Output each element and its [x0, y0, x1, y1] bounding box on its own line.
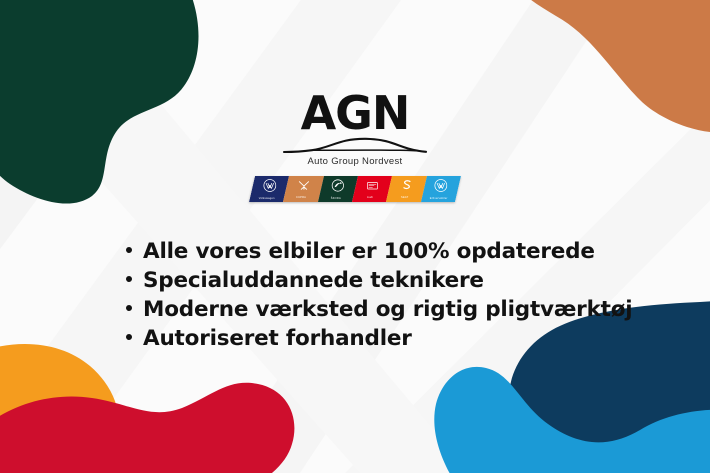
list-item: Alle vores elbiler er 100% opdaterede	[126, 240, 710, 264]
volkswagen-icon	[263, 178, 276, 195]
car-silhouette-icon	[282, 137, 428, 155]
brand-label-skoda: ŠKODA	[331, 196, 341, 199]
poster-content: AGN Auto Group Nordvest Volkswagen	[0, 0, 710, 473]
audi-icon	[366, 179, 380, 195]
benefit-text-4: Autoriseret forhandler	[143, 327, 412, 351]
skoda-icon	[332, 178, 345, 195]
logo-wordmark: AGN	[301, 92, 410, 136]
brand-label-audi: Audi	[367, 196, 373, 199]
seat-icon	[401, 179, 412, 195]
cupra-icon	[297, 179, 310, 195]
benefit-text-2: Specialuddannede teknikere	[143, 269, 484, 293]
list-item: Specialuddannede teknikere	[126, 269, 710, 293]
list-item: Autoriseret forhandler	[126, 327, 710, 351]
benefit-text-1: Alle vores elbiler er 100% opdaterede	[143, 240, 595, 264]
logo-tagline: Auto Group Nordvest	[308, 156, 403, 167]
brand-label-cupra: CUPRA	[296, 196, 306, 199]
bullet-dot-icon	[126, 334, 132, 340]
benefit-text-3: Moderne værksted og rigtig pligtværktøj	[143, 298, 632, 322]
brand-label-volkswagen: Volkswagen	[259, 196, 275, 199]
brand-cell-vw-erhverv[interactable]: Erhvervsbiler	[421, 176, 461, 202]
list-item: Moderne værksted og rigtig pligtværktøj	[126, 298, 710, 322]
bullet-dot-icon	[126, 247, 132, 253]
benefits-list: Alle vores elbiler er 100% opdaterede Sp…	[0, 240, 710, 356]
agn-logo: AGN Auto Group Nordvest	[255, 92, 455, 167]
bullet-dot-icon	[126, 305, 132, 311]
brand-label-seat: SEAT	[401, 196, 408, 199]
volkswagen-commercial-icon	[435, 178, 448, 195]
bullet-dot-icon	[126, 276, 132, 282]
brand-label-vw-erhverv: Erhvervsbiler	[430, 196, 448, 199]
poster-canvas: AGN Auto Group Nordvest Volkswagen	[0, 0, 710, 473]
brand-logo-bar: Volkswagen CUPRA ŠKODA	[249, 176, 461, 202]
